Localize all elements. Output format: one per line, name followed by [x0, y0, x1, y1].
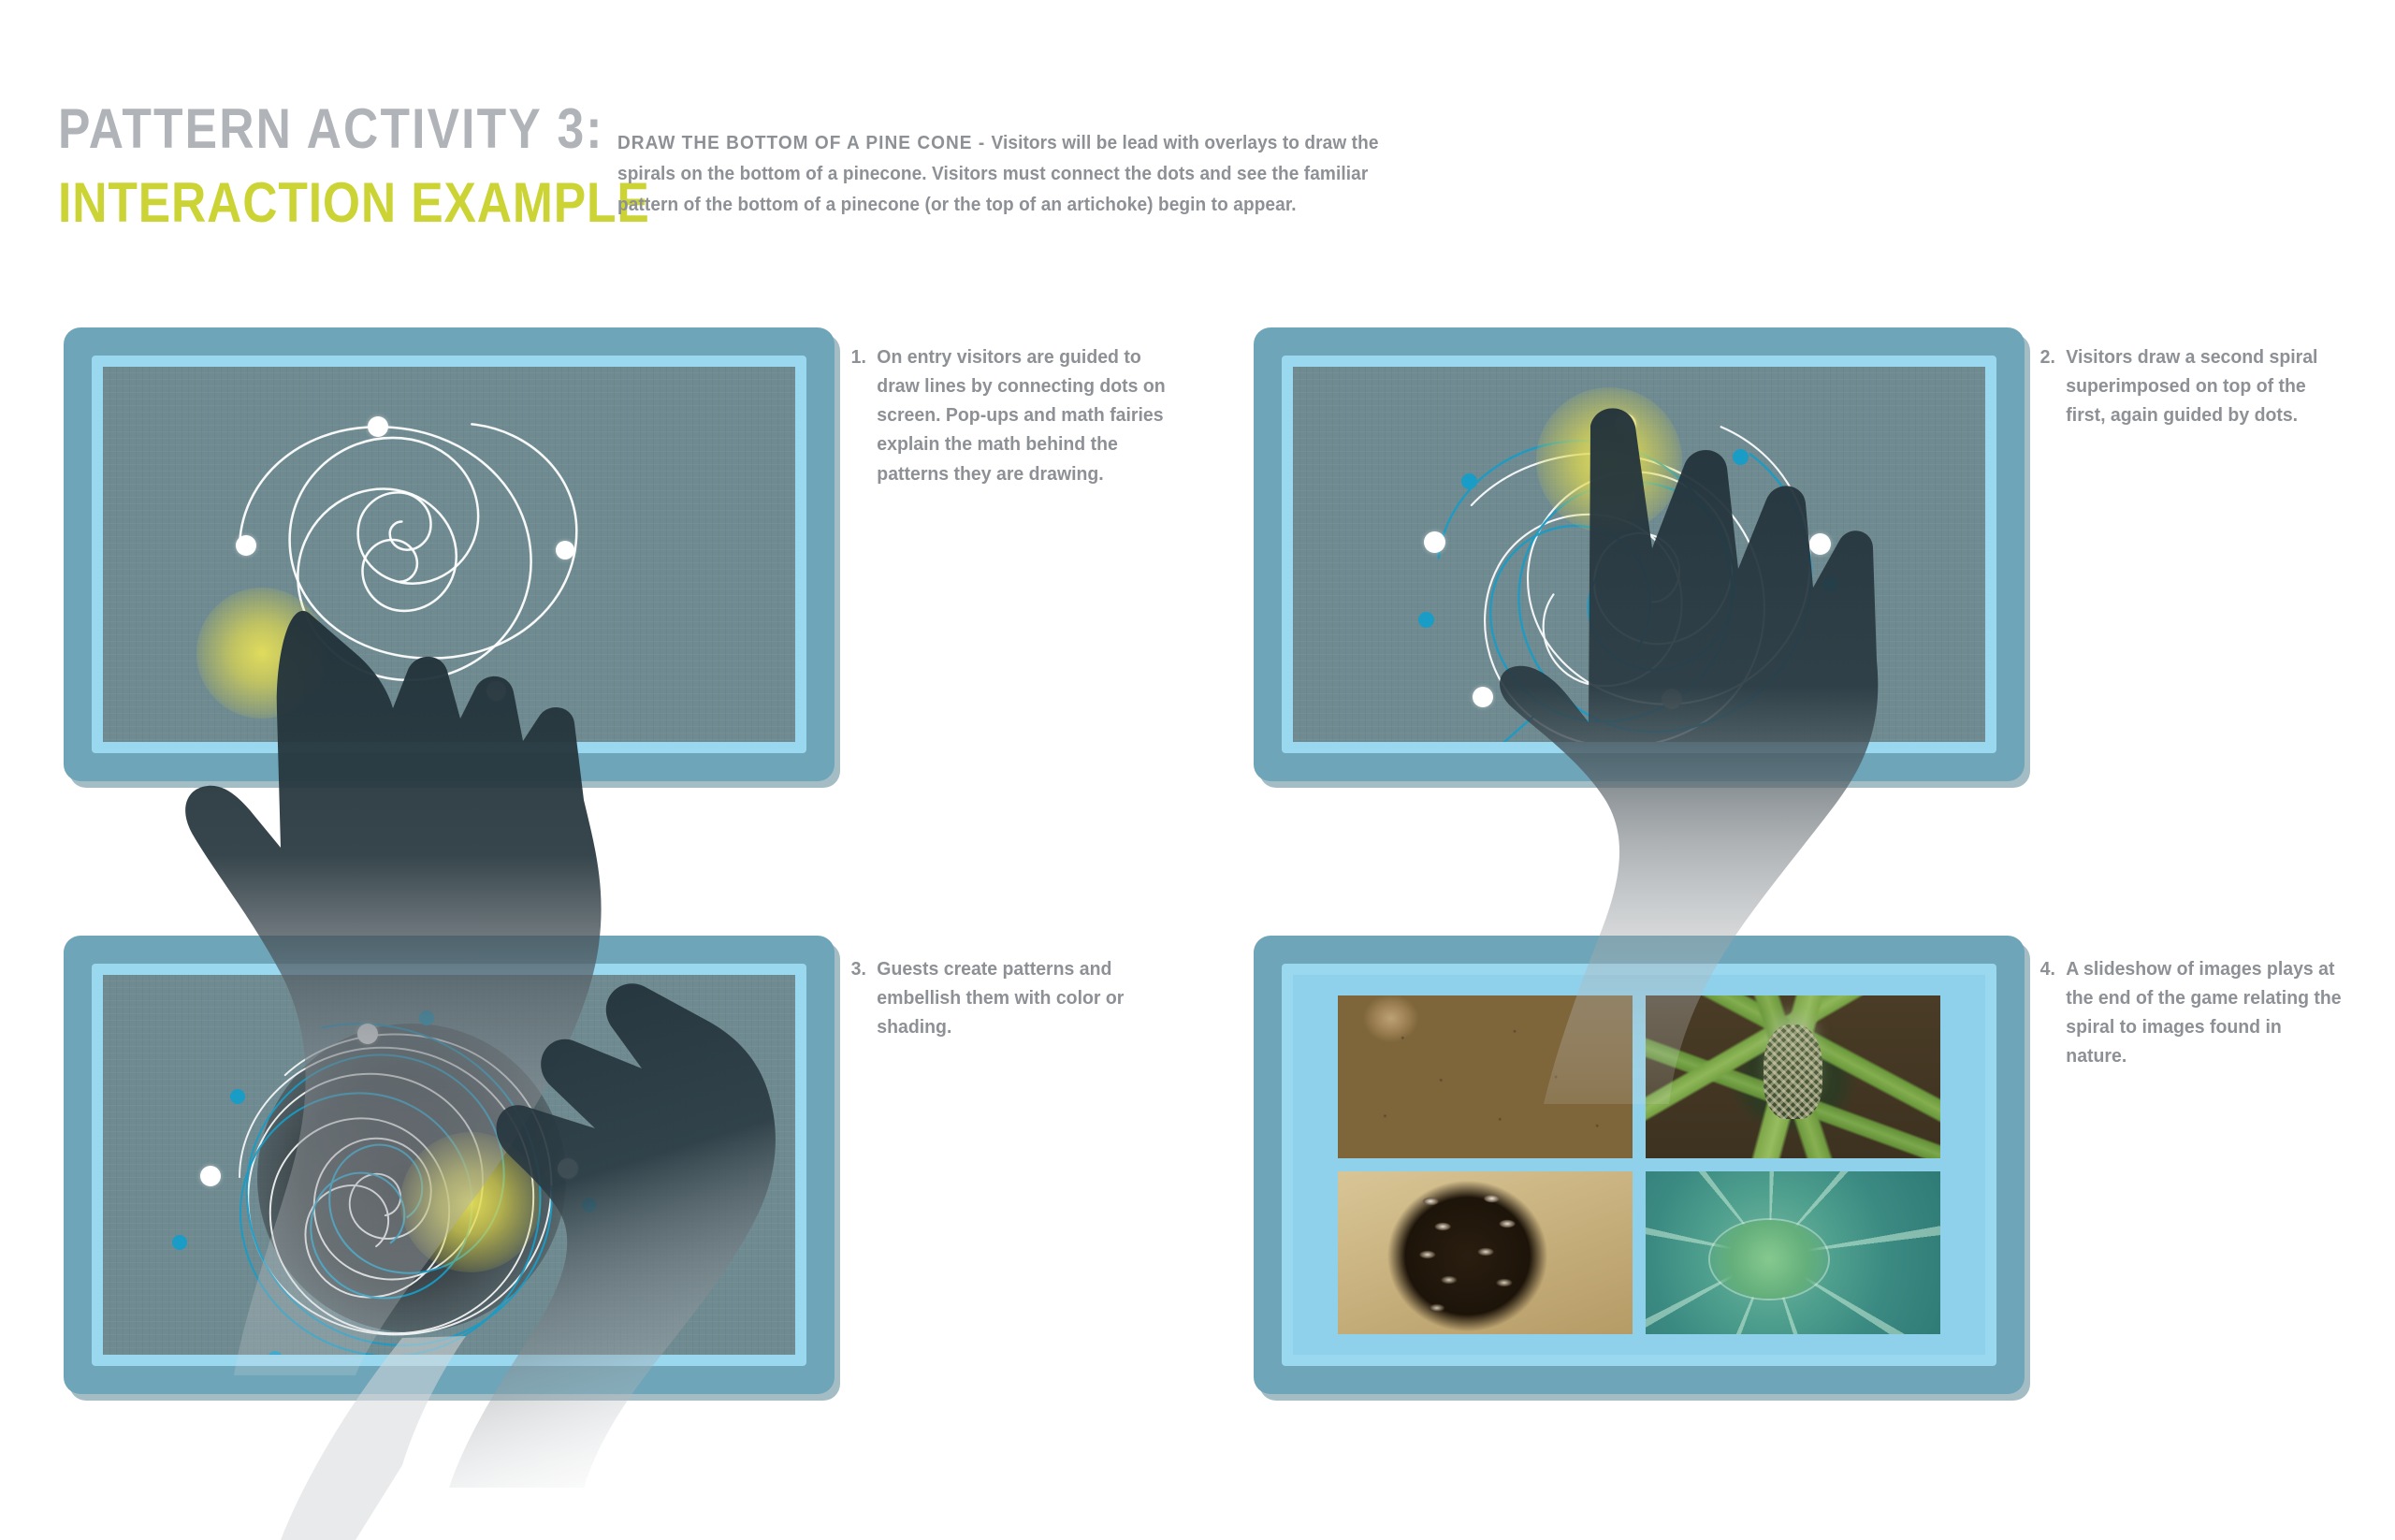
guide-dot-cyan[interactable] — [230, 1089, 245, 1104]
guide-dot-dim[interactable] — [1662, 689, 1682, 709]
panel-1-inner-border — [92, 356, 806, 753]
page-title: PATTERN ACTIVITY 3: INTERACTION EXAMPLE — [58, 101, 601, 235]
photo-succulent-rosette[interactable] — [1646, 1171, 1940, 1334]
panel-4-inner-border — [1282, 964, 1996, 1366]
guide-dot[interactable] — [357, 1024, 378, 1044]
panel-1-screen-mockup[interactable] — [64, 327, 835, 781]
caption-4: 4. A slideshow of images plays at the en… — [2036, 954, 2347, 1071]
panel-4-screen-mockup[interactable] — [1254, 936, 2025, 1394]
guide-dot-cyan[interactable] — [1461, 473, 1477, 489]
photo-pine-cone-bottom-scales[interactable] — [1338, 995, 1633, 1158]
guide-dot[interactable] — [486, 681, 506, 701]
guide-dot[interactable] — [1809, 533, 1831, 555]
caption-4-text: A slideshow of images plays at the end o… — [2066, 954, 2346, 1071]
page-header: PATTERN ACTIVITY 3: INTERACTION EXAMPLE … — [0, 0, 2395, 281]
panel-1-screen[interactable] — [103, 367, 795, 742]
guide-dot-cyan[interactable] — [582, 1198, 597, 1213]
panel-3-screen[interactable] — [103, 975, 795, 1355]
guide-dot[interactable] — [1473, 687, 1493, 707]
caption-3-text: Guests create patterns and embellish the… — [877, 954, 1167, 1041]
guide-dot-cyan[interactable] — [1418, 612, 1434, 628]
guide-dot[interactable] — [558, 1158, 578, 1179]
photo-slideshow-grid[interactable] — [1338, 995, 1940, 1334]
guide-dot-cyan[interactable] — [419, 1010, 434, 1025]
guide-dot[interactable] — [368, 416, 388, 437]
activity-description-lead: DRAW THE BOTTOM OF A PINE CONE - — [617, 132, 992, 153]
panel-2-screen-mockup[interactable] — [1254, 327, 2025, 781]
caption-1: 1. On entry visitors are guided to draw … — [847, 342, 1167, 488]
caption-1-number: 1. — [847, 342, 866, 488]
panel-3-screen-mockup[interactable] — [64, 936, 835, 1394]
caption-4-number: 4. — [2036, 954, 2055, 1071]
panel-4-screen[interactable] — [1293, 975, 1985, 1355]
touch-glow — [196, 588, 327, 719]
panel-2-inner-border — [1282, 356, 1996, 753]
panel-3-inner-border — [92, 964, 806, 1366]
panel-2-screen[interactable] — [1293, 367, 1985, 742]
photo-young-pineapple-plant[interactable] — [1646, 995, 1940, 1158]
guide-dot[interactable] — [200, 1166, 221, 1186]
guide-dot-cyan[interactable] — [1822, 576, 1838, 592]
photo-pine-cone-on-ground[interactable] — [1338, 1171, 1633, 1334]
guide-dot[interactable] — [236, 535, 256, 556]
caption-1-text: On entry visitors are guided to draw lin… — [877, 342, 1167, 488]
caption-2: 2. Visitors draw a second spiral superim… — [2036, 342, 2347, 429]
touch-glow — [1536, 387, 1682, 533]
guide-dot[interactable] — [556, 541, 574, 559]
guide-dot-cyan[interactable] — [172, 1235, 187, 1250]
page-title-line-1: PATTERN ACTIVITY 3: — [58, 101, 525, 157]
caption-2-text: Visitors draw a second spiral superimpos… — [2066, 342, 2346, 429]
caption-2-number: 2. — [2036, 342, 2055, 429]
caption-3: 3. Guests create patterns and embellish … — [847, 954, 1167, 1041]
caption-3-number: 3. — [847, 954, 866, 1041]
page-title-line-2: INTERACTION EXAMPLE — [58, 170, 525, 235]
guide-dot-cyan[interactable] — [1733, 449, 1749, 465]
activity-description: DRAW THE BOTTOM OF A PINE CONE - Visitor… — [617, 127, 1383, 221]
guide-dot[interactable] — [1424, 531, 1445, 553]
touch-glow — [400, 1132, 541, 1272]
